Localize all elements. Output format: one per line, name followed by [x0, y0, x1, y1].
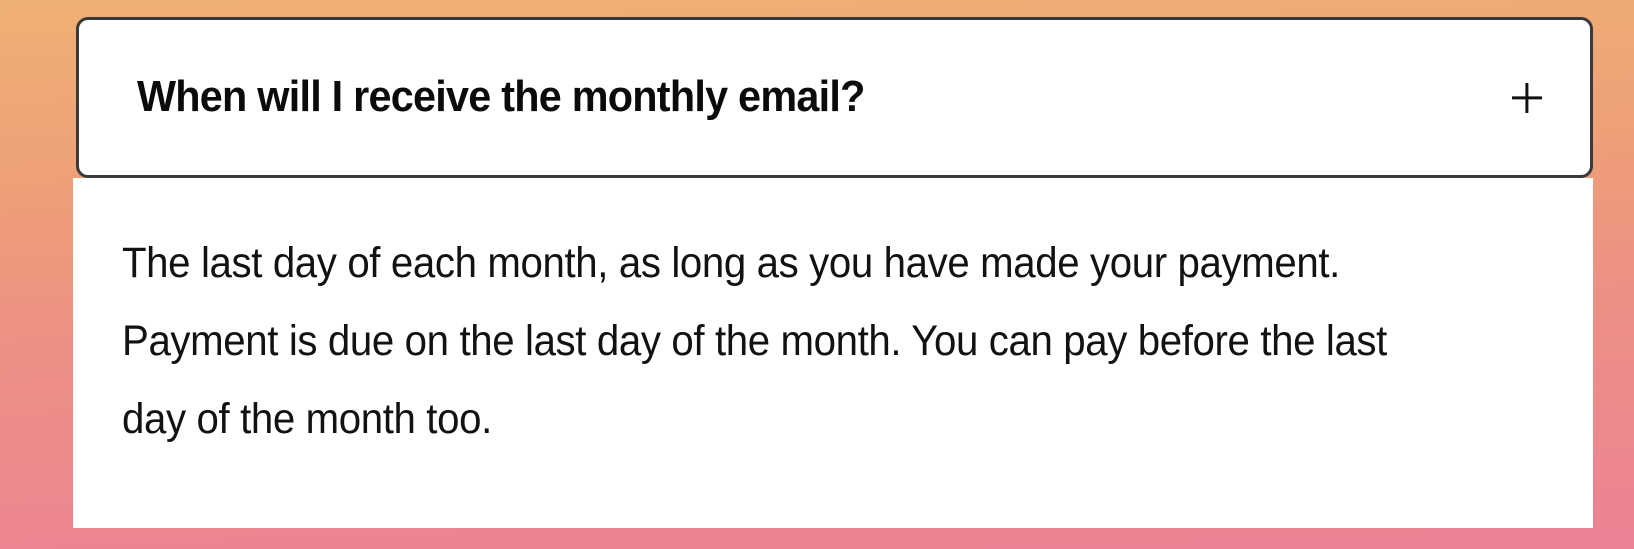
faq-question-header[interactable]: When will I receive the monthly email?	[76, 17, 1593, 178]
faq-accordion: The last day of each month, as long as y…	[0, 0, 1634, 549]
faq-question-label: When will I receive the monthly email?	[137, 74, 865, 120]
plus-icon[interactable]	[1512, 83, 1542, 113]
faq-answer-panel: The last day of each month, as long as y…	[73, 178, 1593, 528]
faq-answer-text: The last day of each month, as long as y…	[122, 224, 1449, 458]
